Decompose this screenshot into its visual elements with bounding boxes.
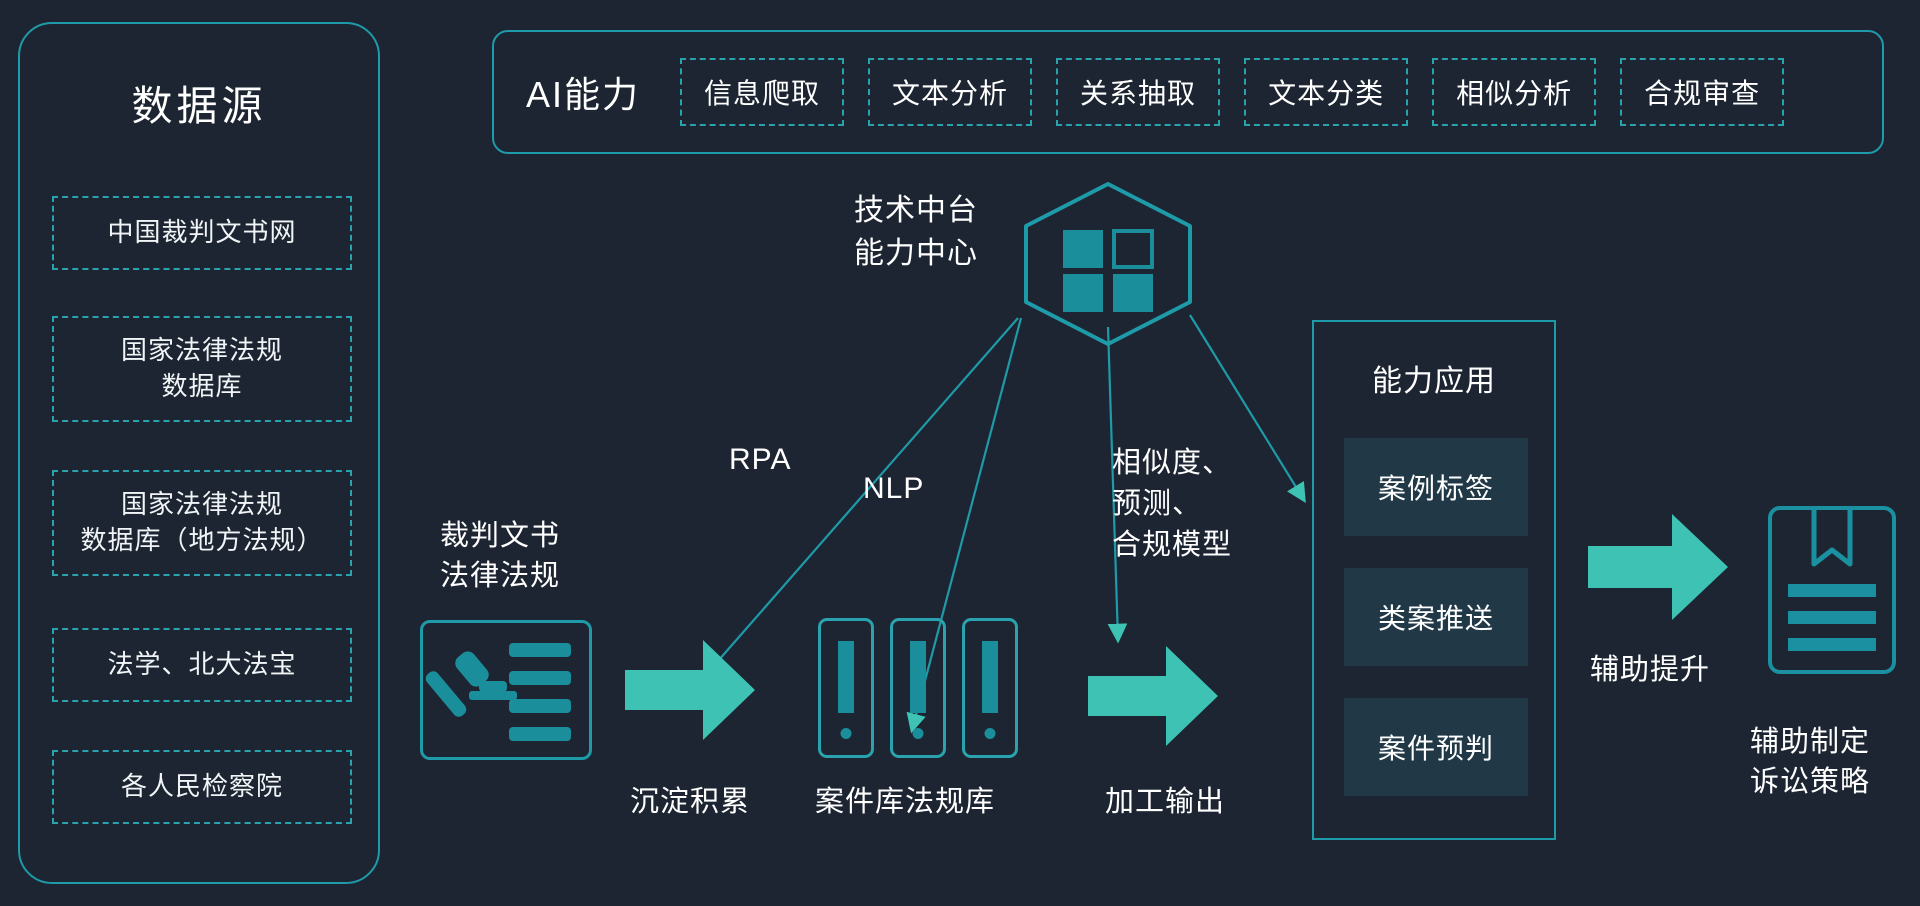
server-bar [910, 641, 926, 713]
gavel-document-icon [420, 620, 592, 760]
diagram-canvas: 数据源 中国裁判文书网 国家法律法规数据库 国家法律法规数据库（地方法规） 法学… [0, 0, 1920, 906]
arrow-sediment-icon [625, 636, 755, 744]
caption-database: 案件库法规库 [790, 782, 1020, 822]
edge-label-similarity: 相似度、预测、合规模型 [1112, 443, 1232, 567]
edge-label-rpa: RPA [729, 443, 791, 477]
ai-chip-5[interactable]: 合规审查 [1620, 58, 1784, 126]
server-dot [913, 728, 924, 739]
capability-application-panel: 能力应用 案例标签 类案推送 案件预判 [1312, 320, 1556, 840]
data-source-title: 数据源 [20, 72, 378, 132]
caption-result: 辅助制定诉讼策略 [1710, 722, 1910, 802]
server-rack-icon [890, 618, 946, 758]
data-source-item-2[interactable]: 国家法律法规数据库（地方法规） [52, 470, 352, 576]
server-dot [841, 728, 852, 739]
server-rack-icon [818, 618, 874, 758]
ai-capability-title: AI能力 [526, 66, 640, 118]
caption-process: 加工输出 [1070, 782, 1260, 822]
data-source-panel: 数据源 中国裁判文书网 国家法律法规数据库 国家法律法规数据库（地方法规） 法学… [18, 22, 380, 884]
data-source-item-label: 中国裁判文书网 [107, 215, 296, 251]
data-source-item-label: 国家法律法规数据库（地方法规） [80, 487, 323, 559]
ai-chip-3[interactable]: 文本分类 [1244, 58, 1408, 126]
ai-chip-2[interactable]: 关系抽取 [1056, 58, 1220, 126]
ai-chip-4[interactable]: 相似分析 [1432, 58, 1596, 126]
server-bar [838, 641, 854, 713]
capability-card-0[interactable]: 案例标签 [1344, 438, 1528, 536]
data-source-item-3[interactable]: 法学、北大法宝 [52, 628, 352, 702]
caption-assist: 辅助提升 [1550, 650, 1750, 690]
data-source-item-label: 国家法律法规数据库 [121, 333, 283, 405]
hub-label-text: 技术中台能力中心 [854, 194, 978, 270]
data-source-item-label: 各人民检察院 [121, 769, 283, 805]
bookmarked-document-icon [1768, 506, 1896, 674]
ai-capability-bar: AI能力 信息爬取 文本分析 关系抽取 文本分类 相似分析 合规审查 [492, 30, 1884, 154]
capability-application-title: 能力应用 [1314, 356, 1554, 400]
grid-hexagon-icon [1020, 180, 1196, 348]
caption-sediment: 沉淀积累 [600, 782, 780, 822]
server-rack-icon [962, 618, 1018, 758]
server-dot [985, 728, 996, 739]
arrow-process-icon [1088, 642, 1218, 750]
hub-label: 技术中台能力中心 [826, 190, 1006, 275]
document-title: 裁判文书法律法规 [400, 516, 600, 596]
ai-chip-0[interactable]: 信息爬取 [680, 58, 844, 126]
edge-label-nlp: NLP [863, 472, 924, 506]
data-source-item-4[interactable]: 各人民检察院 [52, 750, 352, 824]
data-source-item-0[interactable]: 中国裁判文书网 [52, 196, 352, 270]
arrow-assist-icon [1588, 510, 1728, 624]
data-source-item-1[interactable]: 国家法律法规数据库 [52, 316, 352, 422]
ai-chip-1[interactable]: 文本分析 [868, 58, 1032, 126]
capability-card-2[interactable]: 案件预判 [1344, 698, 1528, 796]
data-source-item-label: 法学、北大法宝 [107, 647, 296, 683]
server-bar [982, 641, 998, 713]
capability-card-1[interactable]: 类案推送 [1344, 568, 1528, 666]
